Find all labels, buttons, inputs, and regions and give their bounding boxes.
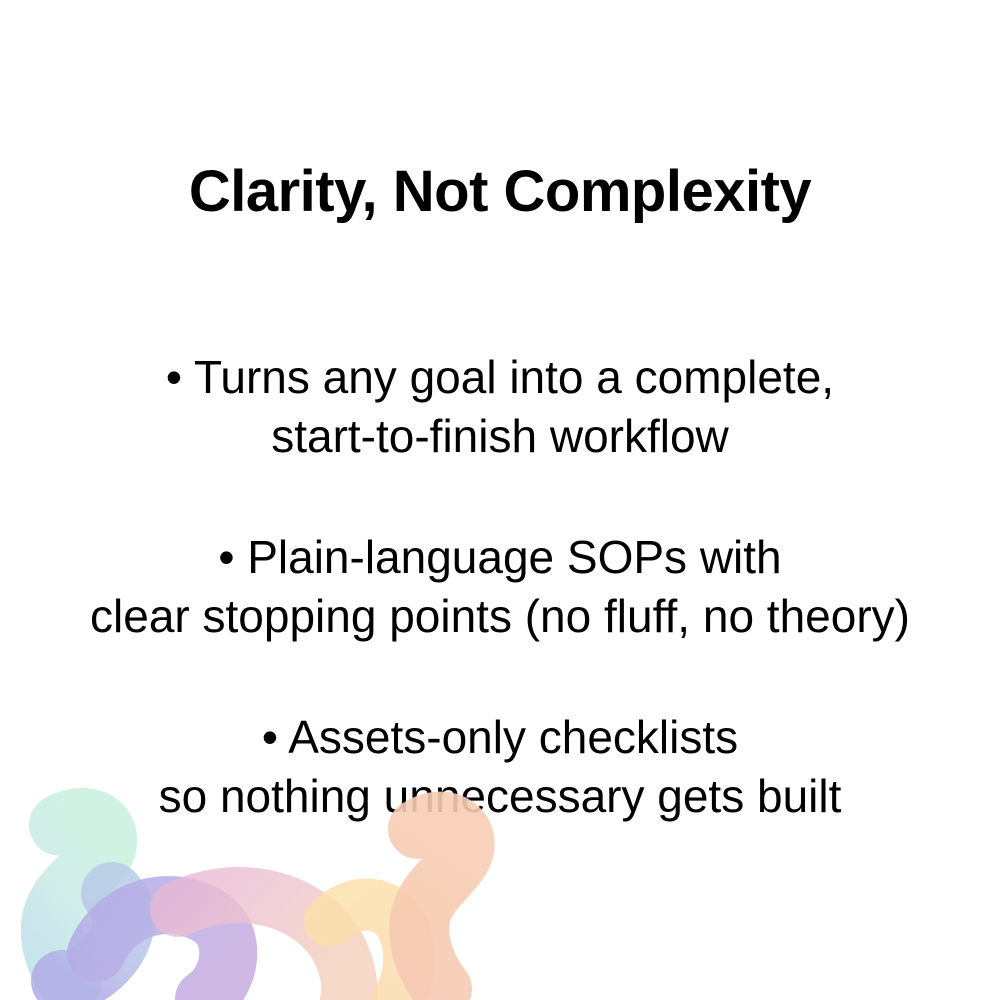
slide-canvas: Clarity, Not Complexity • Turns any goal… <box>0 0 1000 1000</box>
list-item: • Turns any goal into a complete, start-… <box>0 348 1000 466</box>
bullet-line: so nothing unnecessary gets built <box>0 767 1000 826</box>
list-item: • Plain-language SOPs with clear stoppin… <box>0 528 1000 646</box>
list-item: • Assets-only checklists so nothing unne… <box>0 708 1000 826</box>
bullet-line: start-to-finish workflow <box>0 407 1000 466</box>
bullet-list: • Turns any goal into a complete, start-… <box>0 348 1000 826</box>
bullet-line: • Assets-only checklists <box>0 708 1000 767</box>
bullet-line: clear stopping points (no fluff, no theo… <box>0 587 1000 646</box>
page-title: Clarity, Not Complexity <box>0 160 1000 224</box>
bullet-line: • Plain-language SOPs with <box>0 528 1000 587</box>
bullet-line: • Turns any goal into a complete, <box>0 348 1000 407</box>
